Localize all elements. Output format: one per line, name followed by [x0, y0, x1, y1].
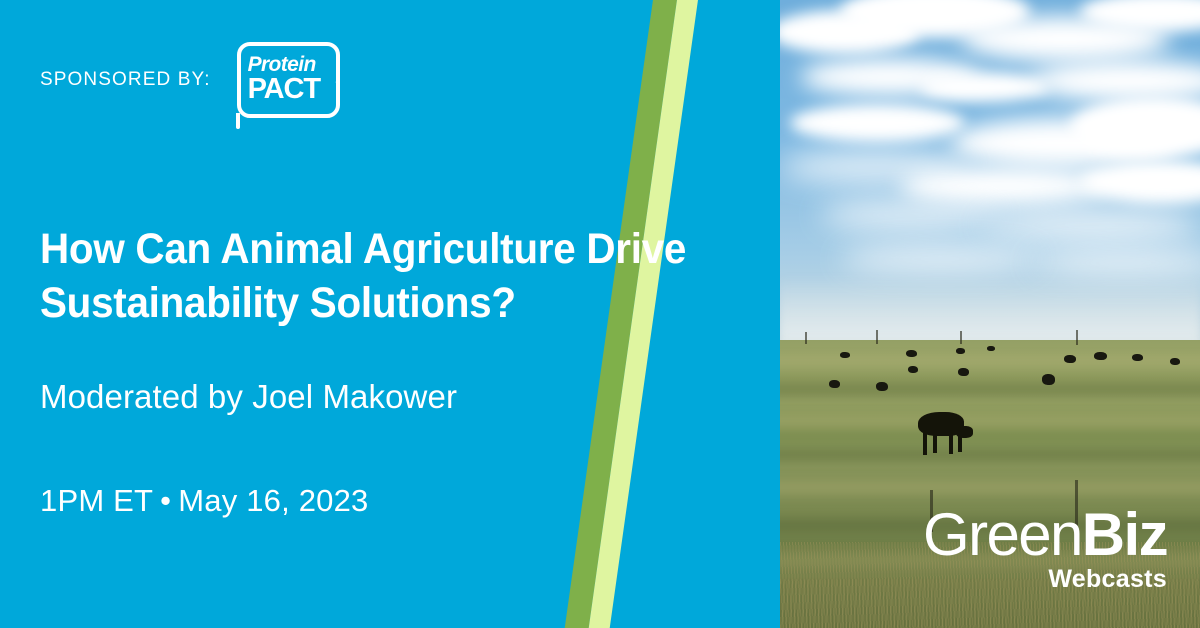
cloud	[820, 200, 1000, 230]
cow	[958, 368, 969, 376]
sponsor-row: SPONSORED BY: Protein PACT•	[40, 42, 340, 118]
greenbiz-biz-text: Biz	[1082, 501, 1167, 568]
cow	[987, 346, 995, 351]
webcast-promo-banner: SPONSORED BY: Protein PACT• How Can Anim…	[0, 0, 1200, 628]
cow	[876, 382, 888, 391]
datetime-line: 1PM ET•May 16, 2023	[40, 483, 368, 519]
cow-leg	[958, 433, 962, 452]
cloud	[980, 208, 1200, 242]
separator-dot: •	[153, 483, 178, 518]
greenbiz-wordmark: GreenBiz	[923, 506, 1167, 564]
cloud	[790, 104, 965, 142]
greenbiz-green-text: Green	[923, 501, 1082, 568]
cow	[906, 350, 917, 357]
date-text: May 16, 2023	[178, 483, 368, 518]
time-text: 1PM ET	[40, 483, 153, 518]
cow-leg	[923, 433, 927, 455]
greenbiz-webcasts-logo: GreenBiz Webcasts	[923, 506, 1167, 592]
content-panel: SPONSORED BY: Protein PACT• How Can Anim…	[0, 0, 780, 628]
cow	[1042, 374, 1055, 385]
webcasts-subtitle: Webcasts	[923, 567, 1167, 592]
cow	[956, 348, 965, 354]
fence-post	[805, 332, 807, 344]
cow	[1170, 358, 1180, 365]
cow-leg	[949, 433, 953, 454]
trademark-mark: •	[336, 78, 338, 87]
pact-text: PACT	[248, 73, 320, 105]
protein-pact-logo-line2: PACT•	[248, 76, 331, 104]
cow	[829, 380, 840, 388]
cow	[1064, 355, 1076, 363]
page-title: How Can Animal Agriculture Drive Sustain…	[40, 222, 726, 331]
sponsored-by-label: SPONSORED BY:	[40, 69, 211, 91]
cow	[840, 352, 850, 358]
moderator-line: Moderated by Joel Makower	[40, 378, 457, 416]
fence-post	[1076, 330, 1078, 345]
fence-post	[960, 331, 962, 344]
cow	[1132, 354, 1143, 361]
cow-leg	[933, 433, 937, 453]
protein-pact-logo: Protein PACT•	[237, 42, 340, 118]
cow	[908, 366, 918, 373]
speech-bubble-tail-icon	[236, 113, 240, 129]
cow	[1094, 352, 1107, 360]
fence-post	[876, 330, 878, 344]
cloud	[840, 246, 1040, 272]
